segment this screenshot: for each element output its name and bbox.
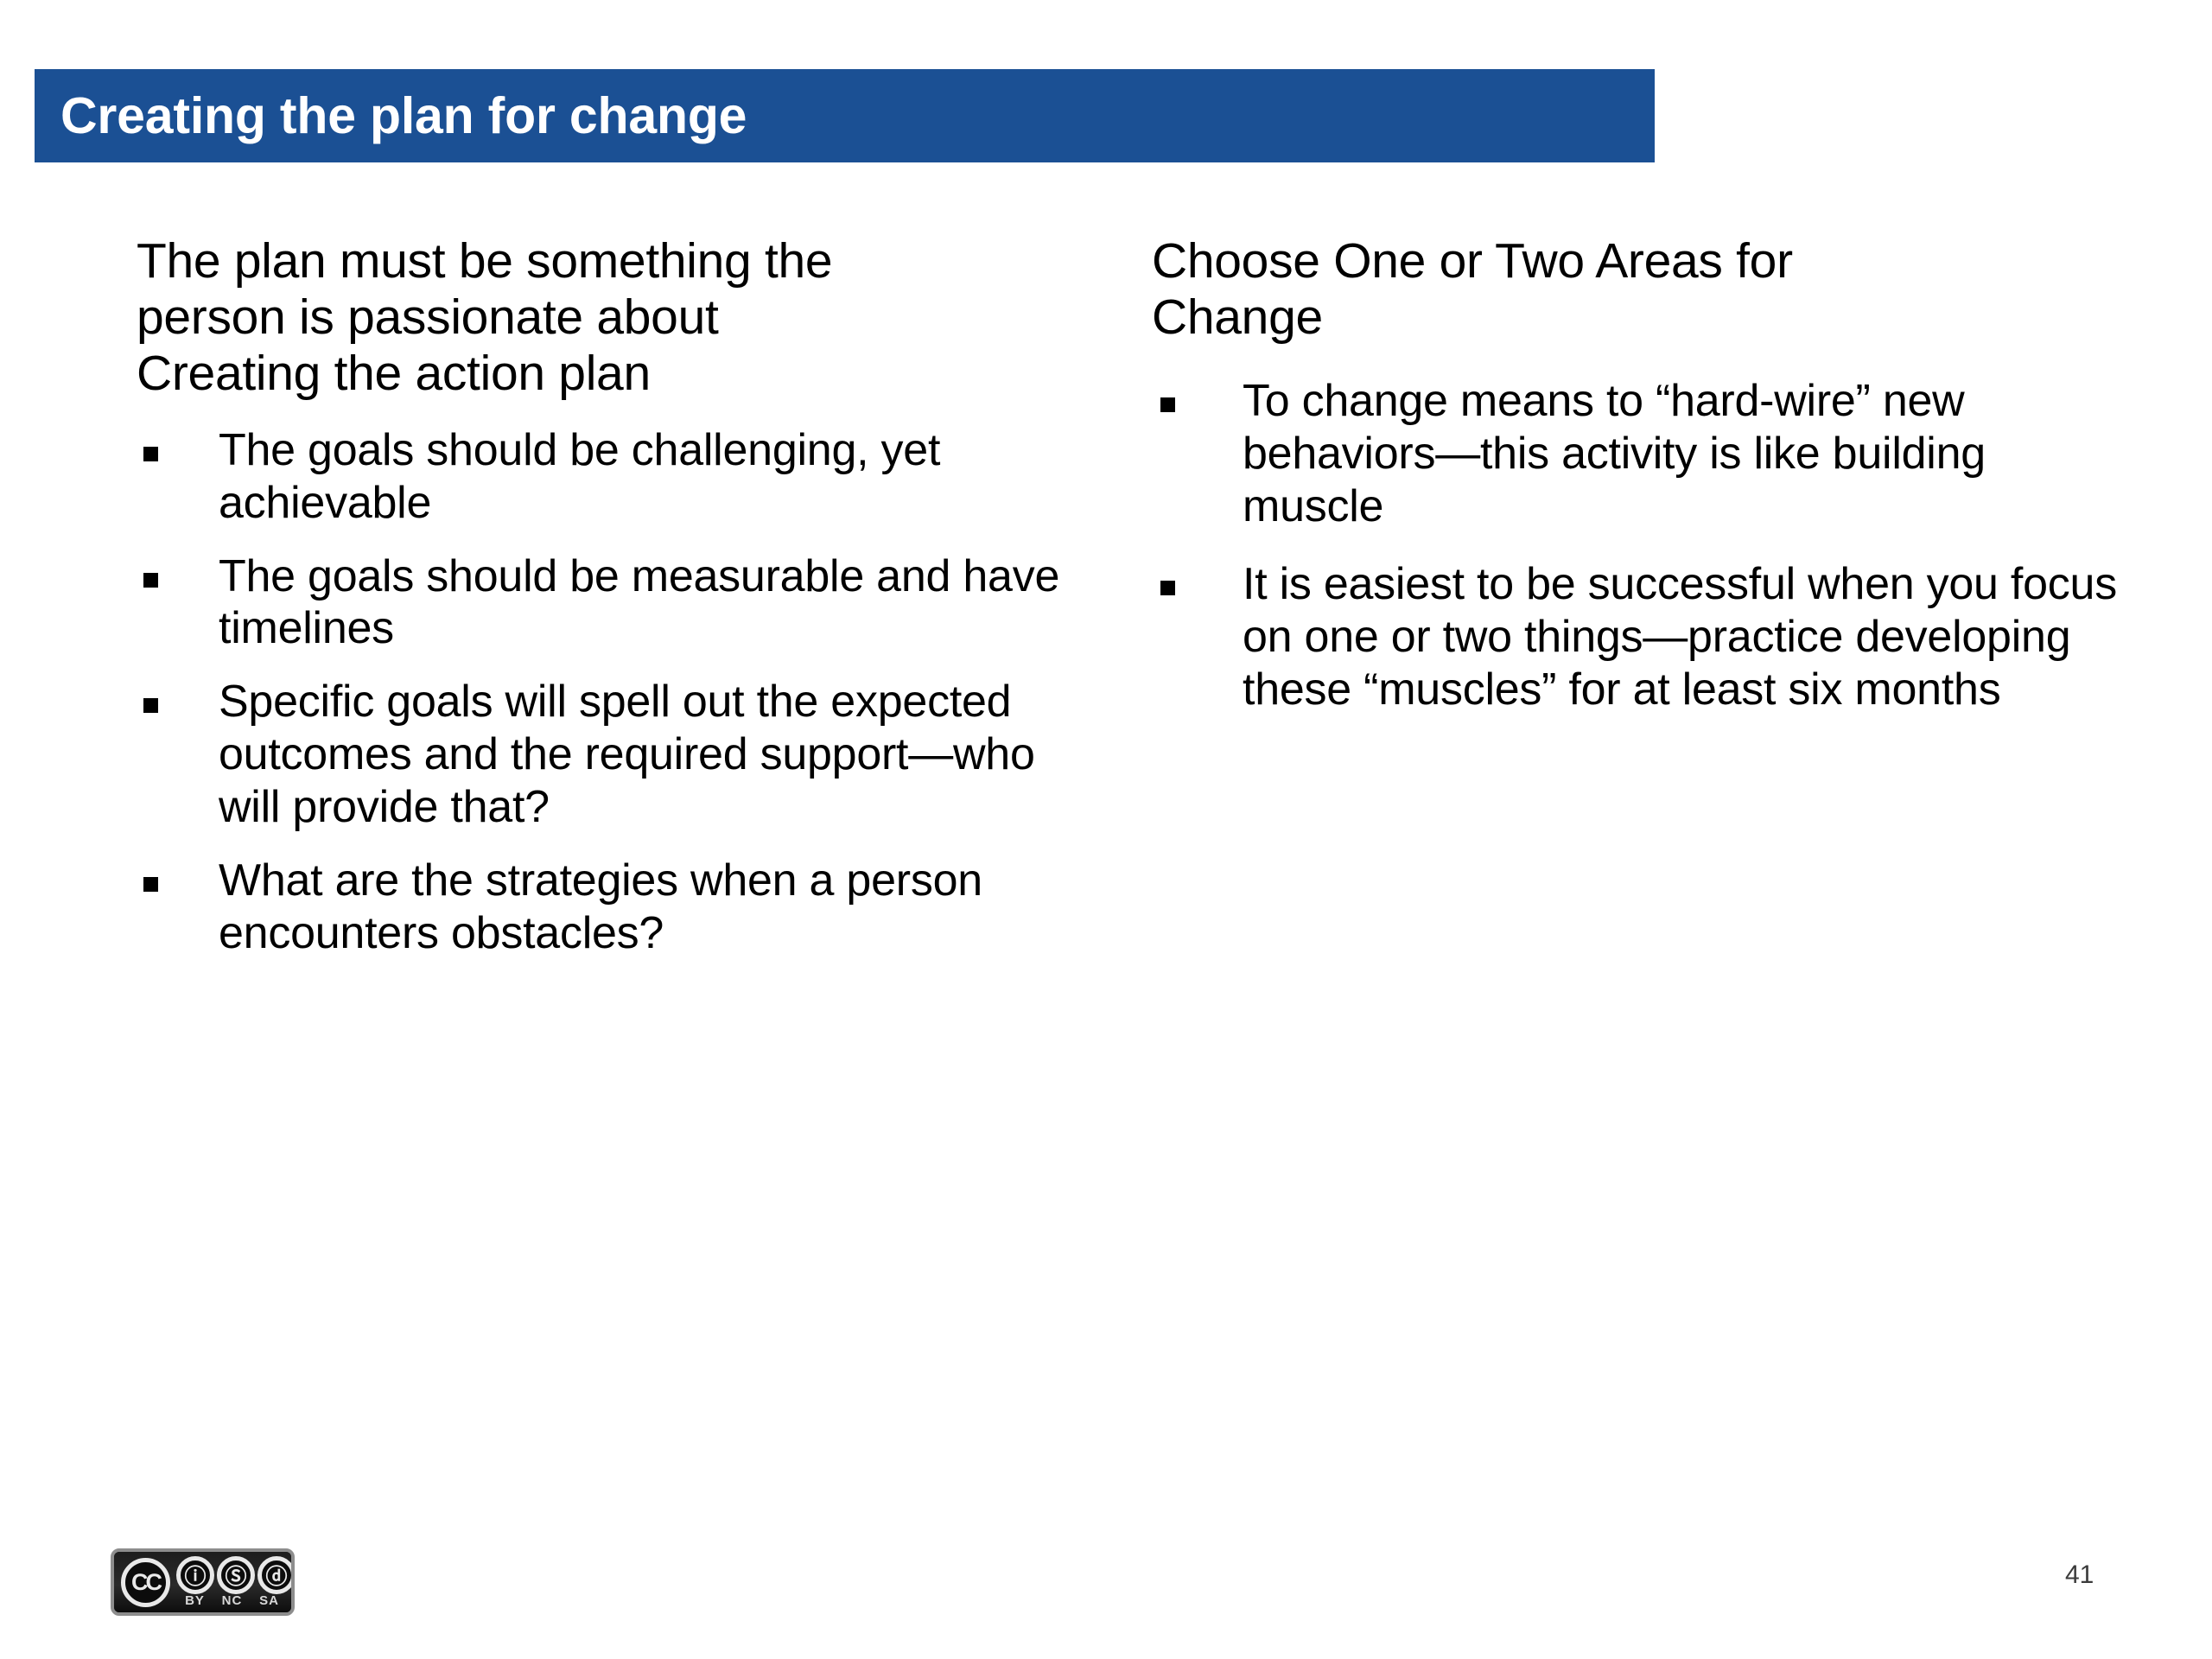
- left-bullet-list: The goals should be challenging, yet ach…: [137, 424, 1078, 959]
- square-bullet-icon: [1160, 397, 1175, 412]
- list-item-label: The goals should be measurable and have …: [219, 550, 1078, 656]
- left-lead-paragraph: The plan must be something the person is…: [137, 233, 1078, 402]
- cc-attribution-icon: ⓘ: [176, 1556, 214, 1594]
- left-lead-line-3: Creating the action plan: [137, 346, 1078, 402]
- left-lead-line-1: The plan must be something the: [137, 233, 1078, 289]
- right-lead-line-2: Change: [1152, 289, 2124, 346]
- cc-label-sa: SA: [251, 1593, 288, 1608]
- cc-sharealike-icon: ⓓ: [257, 1556, 295, 1594]
- list-item: What are the strategies when a person en…: [137, 855, 1078, 960]
- list-item: The goals should be measurable and have …: [137, 550, 1078, 656]
- cc-label-nc: NC: [213, 1593, 251, 1608]
- right-content-column: Choose One or Two Areas for Change To ch…: [1152, 233, 2124, 742]
- cc-label-by: BY: [176, 1593, 213, 1608]
- list-item-label: To change means to “hard-wire” new behav…: [1243, 375, 2124, 532]
- list-item: It is easiest to be successful when you …: [1152, 558, 2124, 715]
- list-item: The goals should be challenging, yet ach…: [137, 424, 1078, 530]
- slide-title-bar: Creating the plan for change: [35, 69, 1655, 162]
- creative-commons-icon: CC: [121, 1558, 170, 1607]
- list-item-label: It is easiest to be successful when you …: [1243, 558, 2124, 715]
- right-lead-line-1: Choose One or Two Areas for: [1152, 233, 2124, 289]
- square-bullet-icon: [143, 698, 158, 713]
- slide-canvas: Creating the plan for change The plan mu…: [0, 0, 2212, 1659]
- left-lead-line-2: person is passionate about: [137, 289, 1078, 346]
- list-item-label: What are the strategies when a person en…: [219, 855, 1078, 960]
- right-bullet-list: To change means to “hard-wire” new behav…: [1152, 375, 2124, 716]
- list-item-label: Specific goals will spell out the expect…: [219, 676, 1078, 833]
- square-bullet-icon: [143, 447, 158, 461]
- list-item: To change means to “hard-wire” new behav…: [1152, 375, 2124, 532]
- cc-noncommercial-icon: Ⓢ: [217, 1556, 255, 1594]
- page-title: Creating the plan for change: [35, 91, 747, 142]
- square-bullet-icon: [143, 877, 158, 892]
- list-item-label: The goals should be challenging, yet ach…: [219, 424, 1078, 530]
- left-content-column: The plan must be something the person is…: [137, 233, 1078, 959]
- right-lead-heading: Choose One or Two Areas for Change: [1152, 233, 2124, 346]
- list-item: Specific goals will spell out the expect…: [137, 676, 1078, 833]
- page-number: 41: [2065, 1560, 2094, 1590]
- square-bullet-icon: [1160, 581, 1175, 595]
- square-bullet-icon: [143, 573, 158, 588]
- creative-commons-license-badge: CC ⓘ Ⓢ ⓓ BY NC SA: [111, 1548, 295, 1616]
- cc-label-row: BY NC SA: [176, 1591, 288, 1610]
